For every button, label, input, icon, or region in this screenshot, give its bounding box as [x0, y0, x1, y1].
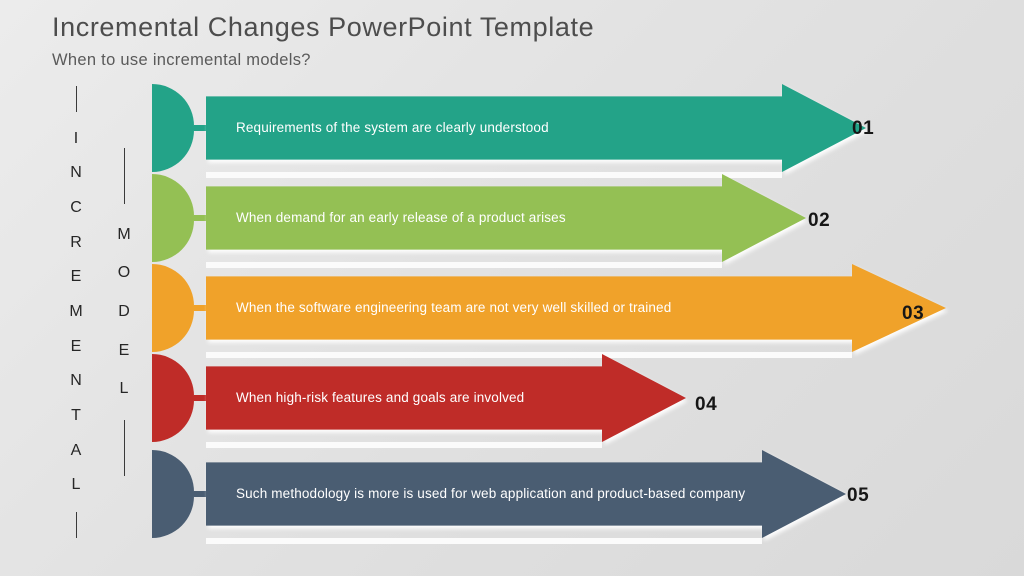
vertical-label-incremental: I N C R E M E N T A L	[62, 86, 90, 538]
letter-incremental-9: A	[71, 443, 82, 459]
arrow-shape-2[interactable]: When demand for an early release of a pr…	[206, 174, 806, 262]
rule-bottom-incremental	[76, 512, 77, 538]
letter-model-0: M	[117, 227, 130, 243]
letter-model-1: O	[118, 265, 130, 281]
arrow-shape-3[interactable]: When the software engineering team are n…	[206, 264, 946, 352]
arrow-number-4: 04	[695, 394, 717, 416]
letter-model-2: D	[118, 304, 130, 320]
arrow-number-2: 02	[808, 210, 830, 232]
arrow-shape-5[interactable]: Such methodology is more is used for web…	[206, 450, 846, 538]
letter-incremental-6: E	[71, 339, 82, 355]
arrow-cap-1	[152, 84, 194, 172]
letter-model-4: L	[120, 381, 129, 397]
arrow-cap-4	[152, 354, 194, 442]
slide-canvas: Incremental Changes PowerPoint Template …	[0, 0, 1024, 576]
arrow-sliver-4	[206, 442, 602, 448]
rule-top-incremental	[76, 86, 77, 112]
arrow-label-2: When demand for an early release of a pr…	[236, 174, 756, 262]
arrow-sliver-5	[206, 538, 762, 544]
letter-model-3: E	[119, 343, 130, 359]
letter-incremental-4: E	[71, 269, 82, 285]
arrow-cap-5	[152, 450, 194, 538]
arrow-number-5: 05	[847, 485, 869, 507]
letter-incremental-0: I	[74, 131, 78, 147]
rule-top-model	[124, 148, 125, 204]
letter-incremental-2: C	[70, 200, 82, 216]
arrow-label-1: Requirements of the system are clearly u…	[236, 84, 756, 172]
rule-bottom-model	[124, 420, 125, 476]
arrow-shape-1[interactable]: Requirements of the system are clearly u…	[206, 84, 866, 172]
page-title: Incremental Changes PowerPoint Template	[52, 12, 594, 43]
arrow-cap-2	[152, 174, 194, 262]
letter-incremental-7: N	[70, 373, 82, 389]
letter-incremental-10: L	[72, 477, 81, 493]
arrow-number-3: 03	[902, 303, 924, 325]
arrow-number-1: 01	[852, 118, 874, 140]
page-subtitle: When to use incremental models?	[52, 51, 311, 70]
letter-incremental-5: M	[69, 304, 82, 320]
arrow-label-3: When the software engineering team are n…	[236, 264, 836, 352]
letter-incremental-1: N	[70, 165, 82, 181]
arrow-cap-3	[152, 264, 194, 352]
vertical-label-model: M O D E L	[110, 148, 138, 476]
letter-incremental-3: R	[70, 235, 82, 251]
arrow-label-5: Such methodology is more is used for web…	[236, 450, 756, 538]
letter-incremental-8: T	[71, 408, 81, 424]
arrow-label-4: When high-risk features and goals are in…	[236, 354, 676, 442]
arrow-shape-4[interactable]: When high-risk features and goals are in…	[206, 354, 686, 442]
